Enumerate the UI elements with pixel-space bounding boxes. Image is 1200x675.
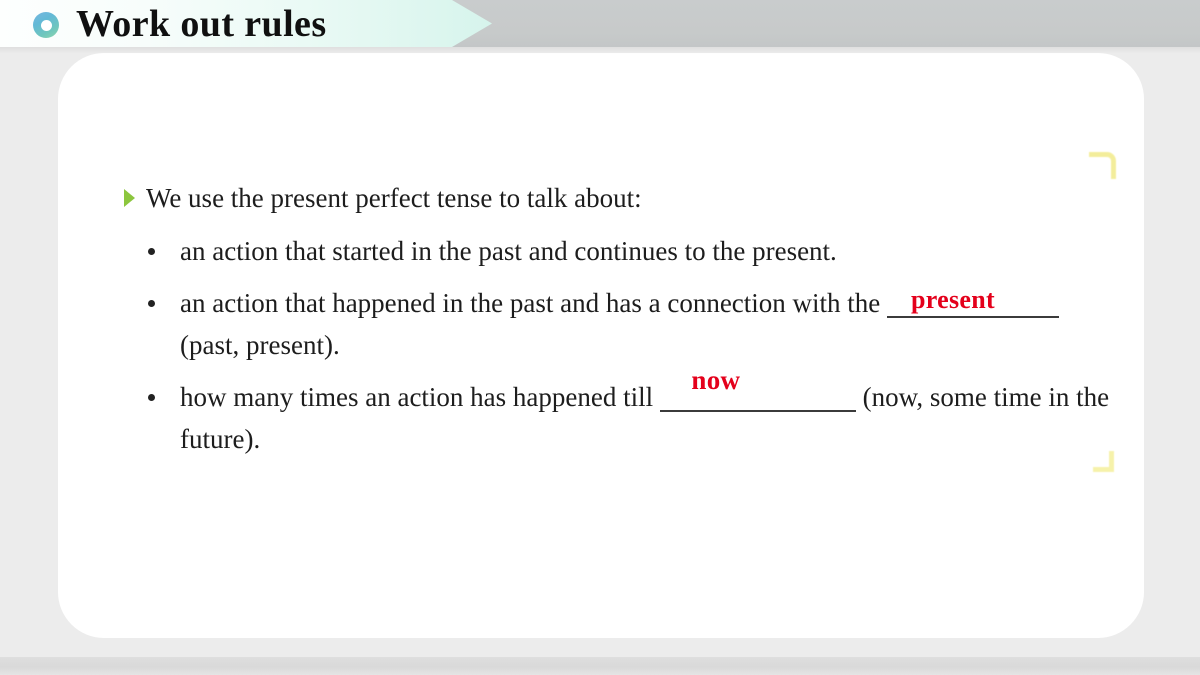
green-triangle-icon [124, 189, 135, 207]
list-item: an action that started in the past and c… [122, 230, 1112, 272]
fill-in-blank-now[interactable]: now [660, 376, 856, 412]
rules-content: We use the present perfect tense to talk… [122, 176, 1112, 460]
dot-bullet-icon [148, 300, 155, 307]
dot-bullet-icon [148, 394, 155, 401]
ring-dot-icon [33, 12, 59, 38]
dot-bullet-icon [148, 248, 155, 255]
slide: Work out rules We use the present perfec… [0, 0, 1200, 675]
list-item: how many times an action has happened ti… [122, 376, 1112, 460]
answer-text: present [911, 285, 995, 314]
lead-line: We use the present perfect tense to talk… [122, 176, 1112, 220]
rule-text-before: an action that happened in the past and … [180, 288, 880, 318]
rule-text: an action that started in the past and c… [180, 236, 837, 266]
top-band-shadow [0, 47, 1200, 54]
answer-text: now [691, 365, 740, 395]
bottom-strip [0, 657, 1200, 675]
rules-list: an action that started in the past and c… [122, 230, 1112, 460]
fill-in-blank-present[interactable]: present [887, 282, 1059, 318]
list-item: an action that happened in the past and … [122, 282, 1112, 366]
page-title: Work out rules [76, 1, 327, 47]
rule-text-after: (past, present). [180, 330, 340, 360]
lead-text: We use the present perfect tense to talk… [146, 183, 642, 213]
corner-decoration-top-right-icon [1090, 152, 1116, 178]
rule-text-before: how many times an action has happened ti… [180, 382, 653, 412]
